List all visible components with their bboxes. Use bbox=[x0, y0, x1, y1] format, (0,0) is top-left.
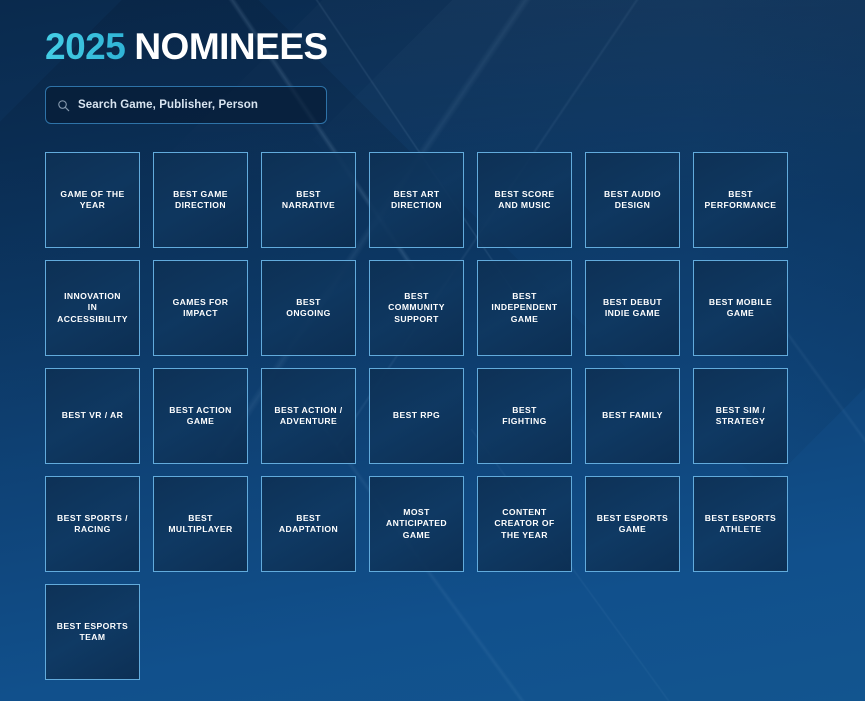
category-card-label: BEST PERFORMANCE bbox=[705, 189, 777, 212]
category-card-best-esports-game[interactable]: BEST ESPORTS GAME bbox=[585, 476, 680, 572]
category-card-label: BEST AUDIO DESIGN bbox=[604, 189, 661, 212]
category-card-games-for-impact[interactable]: GAMES FOR IMPACT bbox=[153, 260, 248, 356]
category-card-best-esports-team[interactable]: BEST ESPORTS TEAM bbox=[45, 584, 140, 680]
category-card-label: BEST INDEPENDENT GAME bbox=[491, 291, 557, 325]
category-card-label: BEST ESPORTS TEAM bbox=[57, 621, 128, 644]
category-card-best-score-and-music[interactable]: BEST SCORE AND MUSIC bbox=[477, 152, 572, 248]
category-card-best-esports-athlete[interactable]: BEST ESPORTS ATHLETE bbox=[693, 476, 788, 572]
search-input[interactable] bbox=[78, 99, 315, 111]
category-card-label: BEST COMMUNITY SUPPORT bbox=[388, 291, 445, 325]
category-card-label: BEST DEBUT INDIE GAME bbox=[603, 297, 662, 320]
category-card-label: BEST ONGOING bbox=[286, 297, 330, 320]
category-card-label: BEST ACTION / ADVENTURE bbox=[274, 405, 342, 428]
category-card-best-community-support[interactable]: BEST COMMUNITY SUPPORT bbox=[369, 260, 464, 356]
category-card-best-family[interactable]: BEST FAMILY bbox=[585, 368, 680, 464]
category-card-label: BEST FIGHTING bbox=[502, 405, 546, 428]
category-card-best-sim-strategy[interactable]: BEST SIM / STRATEGY bbox=[693, 368, 788, 464]
category-card-best-vr-ar[interactable]: BEST VR / AR bbox=[45, 368, 140, 464]
category-card-label: BEST SCORE AND MUSIC bbox=[494, 189, 554, 212]
category-card-best-mobile-game[interactable]: BEST MOBILE GAME bbox=[693, 260, 788, 356]
nominees-page: 2025NOMINEES GAME OF THE YEARBEST GAME D… bbox=[0, 0, 865, 701]
category-card-best-fighting[interactable]: BEST FIGHTING bbox=[477, 368, 572, 464]
page-title: 2025NOMINEES bbox=[45, 28, 865, 65]
category-card-label: BEST ESPORTS ATHLETE bbox=[705, 513, 776, 536]
category-card-best-independent-game[interactable]: BEST INDEPENDENT GAME bbox=[477, 260, 572, 356]
category-card-label: BEST RPG bbox=[393, 410, 440, 421]
category-card-game-of-the-year[interactable]: GAME OF THE YEAR bbox=[45, 152, 140, 248]
category-card-label: BEST ACTION GAME bbox=[169, 405, 232, 428]
category-card-best-performance[interactable]: BEST PERFORMANCE bbox=[693, 152, 788, 248]
category-card-label: BEST GAME DIRECTION bbox=[173, 189, 228, 212]
category-card-label: GAMES FOR IMPACT bbox=[173, 297, 229, 320]
category-card-most-anticipated-game[interactable]: MOST ANTICIPATED GAME bbox=[369, 476, 464, 572]
category-card-best-sports-racing[interactable]: BEST SPORTS / RACING bbox=[45, 476, 140, 572]
category-card-label: BEST MULTIPLAYER bbox=[168, 513, 232, 536]
category-card-label: GAME OF THE YEAR bbox=[60, 189, 124, 212]
category-card-label: BEST FAMILY bbox=[602, 410, 663, 421]
search-bar[interactable] bbox=[45, 86, 327, 124]
category-card-innovation-in-accessibility[interactable]: INNOVATION IN ACCESSIBILITY bbox=[45, 260, 140, 356]
category-card-best-audio-design[interactable]: BEST AUDIO DESIGN bbox=[585, 152, 680, 248]
category-card-best-action-game[interactable]: BEST ACTION GAME bbox=[153, 368, 248, 464]
page-title-year: 2025 bbox=[45, 26, 125, 67]
category-card-best-adaptation[interactable]: BEST ADAPTATION bbox=[261, 476, 356, 572]
category-card-label: CONTENT CREATOR OF THE YEAR bbox=[494, 507, 554, 541]
category-card-best-narrative[interactable]: BEST NARRATIVE bbox=[261, 152, 356, 248]
category-card-best-multiplayer[interactable]: BEST MULTIPLAYER bbox=[153, 476, 248, 572]
category-card-label: BEST ART DIRECTION bbox=[391, 189, 442, 212]
category-grid: GAME OF THE YEARBEST GAME DIRECTIONBEST … bbox=[45, 152, 801, 680]
category-card-label: BEST ADAPTATION bbox=[279, 513, 338, 536]
category-card-label: INNOVATION IN ACCESSIBILITY bbox=[57, 291, 128, 325]
category-card-best-game-direction[interactable]: BEST GAME DIRECTION bbox=[153, 152, 248, 248]
category-card-label: BEST ESPORTS GAME bbox=[597, 513, 668, 536]
category-card-label: BEST MOBILE GAME bbox=[709, 297, 772, 320]
category-card-best-action-adventure[interactable]: BEST ACTION / ADVENTURE bbox=[261, 368, 356, 464]
category-card-best-debut-indie-game[interactable]: BEST DEBUT INDIE GAME bbox=[585, 260, 680, 356]
category-card-best-ongoing[interactable]: BEST ONGOING bbox=[261, 260, 356, 356]
page-title-text: NOMINEES bbox=[134, 26, 327, 67]
category-card-label: BEST VR / AR bbox=[62, 410, 124, 421]
search-icon bbox=[57, 99, 70, 112]
category-card-best-rpg[interactable]: BEST RPG bbox=[369, 368, 464, 464]
category-card-label: BEST SIM / STRATEGY bbox=[716, 405, 766, 428]
category-card-best-art-direction[interactable]: BEST ART DIRECTION bbox=[369, 152, 464, 248]
page-content: 2025NOMINEES GAME OF THE YEARBEST GAME D… bbox=[0, 0, 865, 680]
category-card-label: MOST ANTICIPATED GAME bbox=[386, 507, 447, 541]
category-card-content-creator-of-the-year[interactable]: CONTENT CREATOR OF THE YEAR bbox=[477, 476, 572, 572]
category-card-label: BEST NARRATIVE bbox=[282, 189, 335, 212]
category-card-label: BEST SPORTS / RACING bbox=[57, 513, 128, 536]
